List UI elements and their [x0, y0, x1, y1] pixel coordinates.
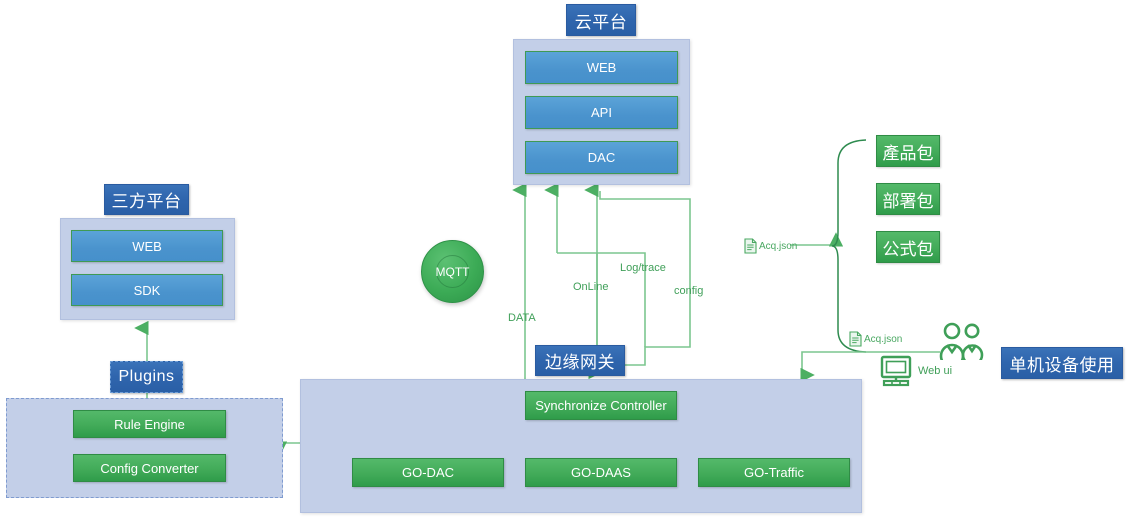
document-icon — [744, 238, 757, 254]
edge-gateway-caption: 边缘网关 — [535, 345, 625, 376]
file-label-acq-json-bottom: Acq.json — [849, 331, 902, 347]
third-party-item-sdk-label: SDK — [134, 283, 161, 298]
document-icon — [849, 331, 862, 347]
service-go-traffic[interactable]: GO-Traffic — [698, 458, 850, 487]
service-go-dac[interactable]: GO-DAC — [352, 458, 504, 487]
third-party-item-web-label: WEB — [132, 239, 162, 254]
cloud-platform-caption-label: 云平台 — [575, 8, 628, 33]
plugins-caption: Plugins — [110, 361, 183, 393]
third-party-platform-caption: 三方平台 — [104, 184, 189, 215]
plugins-item-config-converter[interactable]: Config Converter — [73, 454, 226, 482]
plugins-item-config-converter-label: Config Converter — [100, 461, 198, 476]
cloud-platform-item-web[interactable]: WEB — [525, 51, 678, 84]
flow-label-data: DATA — [508, 312, 536, 324]
package-product-label: 產品包 — [883, 139, 934, 164]
package-product[interactable]: 產品包 — [876, 135, 940, 167]
third-party-item-web[interactable]: WEB — [71, 230, 223, 262]
mqtt-broker-node[interactable]: MQTT — [421, 240, 484, 303]
plugins-item-rule-engine[interactable]: Rule Engine — [73, 410, 226, 438]
service-go-dac-label: GO-DAC — [402, 465, 454, 480]
service-go-daas-label: GO-DAAS — [571, 465, 631, 480]
architecture-diagram-canvas: 云平台 WEB API DAC 三方平台 WEB SDK Plugins Rul… — [0, 0, 1130, 519]
cloud-platform-item-dac[interactable]: DAC — [525, 141, 678, 174]
file-label-acq-json-top-text: Acq.json — [759, 241, 797, 252]
third-party-item-sdk[interactable]: SDK — [71, 274, 223, 306]
users-icon — [938, 322, 986, 360]
file-label-acq-json-top: Acq.json — [744, 238, 797, 254]
standalone-device-caption: 单机设备使用 — [1001, 347, 1123, 379]
cloud-platform-caption: 云平台 — [566, 4, 636, 36]
cloud-platform-item-api-label: API — [591, 105, 612, 120]
service-go-daas[interactable]: GO-DAAS — [525, 458, 677, 487]
monitor-icon — [880, 355, 914, 387]
monitor-icon-wrap — [880, 355, 914, 392]
flow-label-log-trace: Log/trace — [620, 262, 666, 274]
plugins-item-rule-engine-label: Rule Engine — [114, 417, 185, 432]
third-party-platform-caption-label: 三方平台 — [112, 187, 182, 212]
synchronize-controller[interactable]: Synchronize Controller — [525, 391, 677, 420]
cloud-platform-item-web-label: WEB — [587, 60, 617, 75]
service-go-traffic-label: GO-Traffic — [744, 465, 804, 480]
package-deploy-label: 部署包 — [883, 187, 934, 212]
plugins-caption-label: Plugins — [119, 368, 175, 386]
package-deploy[interactable]: 部署包 — [876, 183, 940, 215]
package-formula[interactable]: 公式包 — [876, 231, 940, 263]
edge-gateway-caption-label: 边缘网关 — [545, 348, 615, 373]
mqtt-label: MQTT — [436, 265, 470, 279]
flow-label-online: OnLine — [573, 281, 608, 293]
synchronize-controller-label: Synchronize Controller — [535, 398, 667, 413]
flow-label-config: config — [674, 285, 703, 297]
file-label-acq-json-bottom-text: Acq.json — [864, 334, 902, 345]
standalone-device-caption-label: 单机设备使用 — [1010, 351, 1115, 376]
cloud-platform-item-dac-label: DAC — [588, 150, 615, 165]
cloud-platform-item-api[interactable]: API — [525, 96, 678, 129]
wire-online-elbow — [557, 253, 597, 347]
users-icon-wrap — [938, 322, 986, 365]
web-ui-label: Web ui — [918, 365, 952, 377]
packages-brace — [832, 140, 866, 352]
package-formula-label: 公式包 — [883, 235, 934, 260]
